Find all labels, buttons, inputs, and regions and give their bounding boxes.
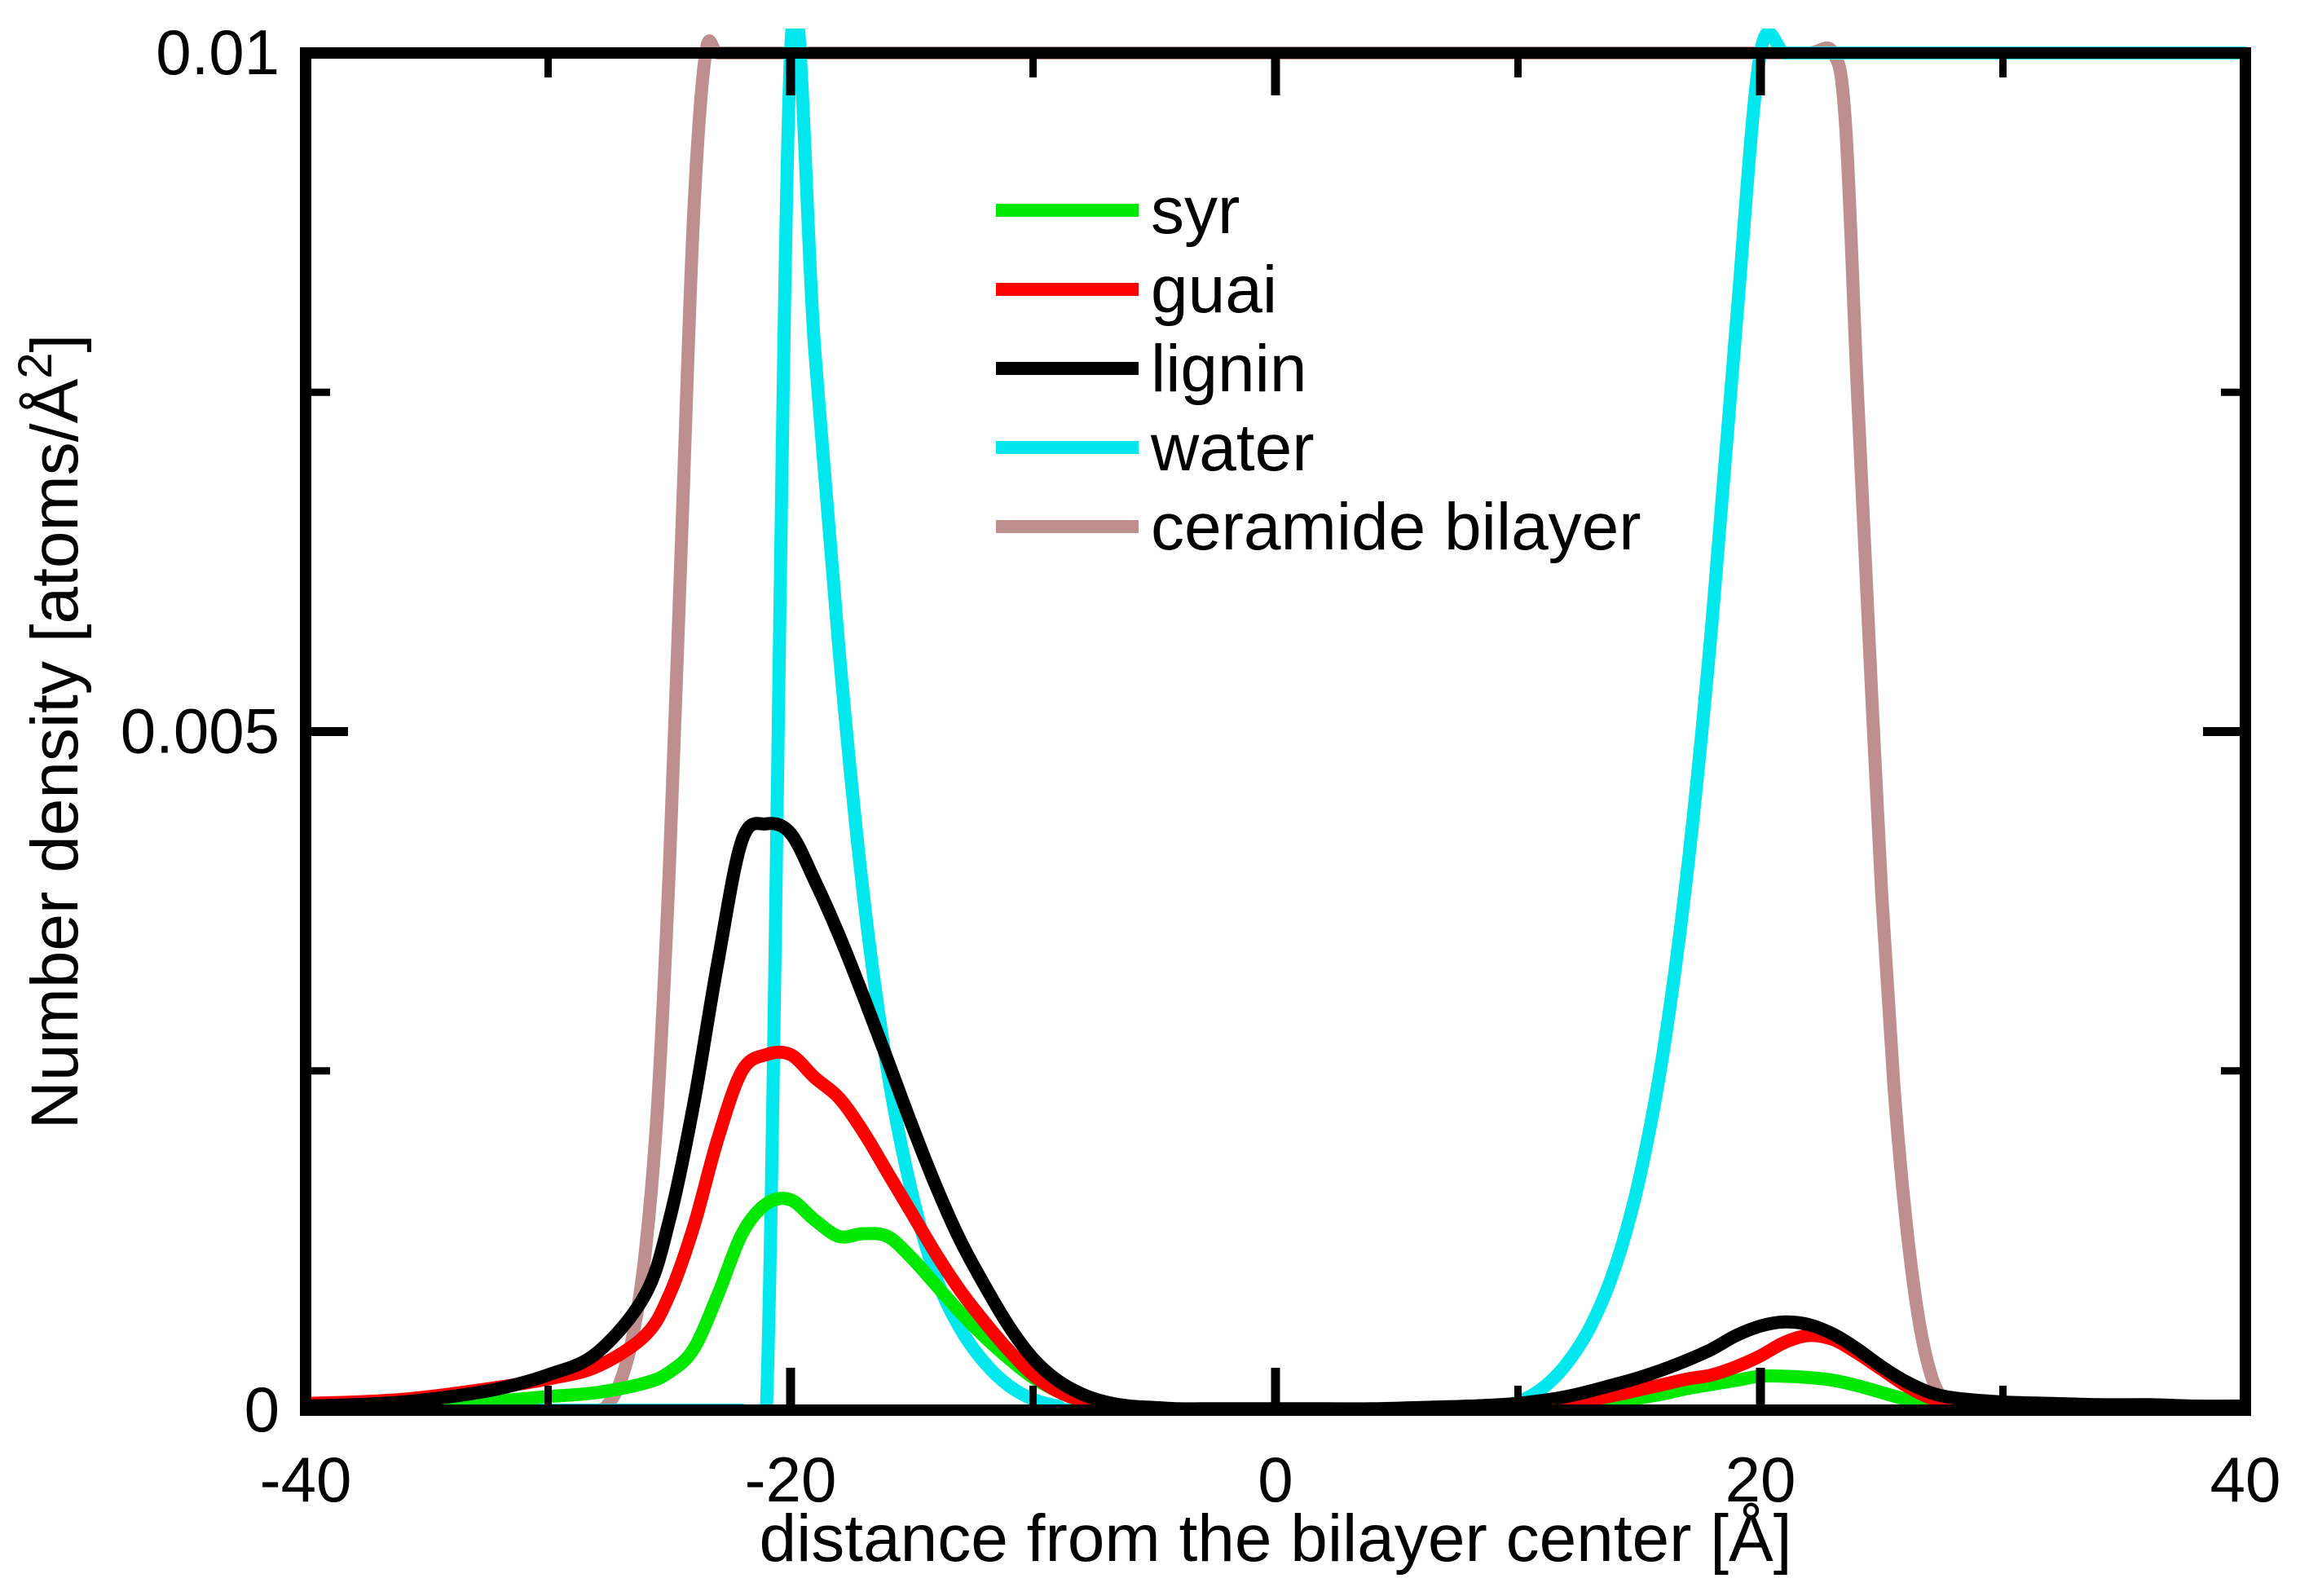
plot-background xyxy=(0,0,2300,1596)
svg-text:Number density [atoms/Å2]: Number density [atoms/Å2] xyxy=(9,334,92,1130)
legend-label: water xyxy=(1150,411,1315,485)
density-plot: -40-200204000.0050.01distance from the b… xyxy=(0,0,2300,1596)
legend-label: lignin xyxy=(1151,332,1306,406)
x-tick-label: -40 xyxy=(260,1444,352,1515)
y-axis-title: Number density [atoms/Å2] xyxy=(9,334,92,1130)
figure-page: -40-200204000.0050.01distance from the b… xyxy=(0,0,2300,1596)
legend-label: syr xyxy=(1151,174,1240,248)
x-axis-title: distance from the bilayer center [Å] xyxy=(759,1501,1791,1576)
legend-label: guai xyxy=(1151,253,1277,327)
y-tick-label: 0.01 xyxy=(156,16,280,88)
x-tick-label: 40 xyxy=(2210,1444,2281,1515)
legend-label: ceramide bilayer xyxy=(1151,490,1641,564)
y-tick-label: 0.005 xyxy=(121,695,280,767)
y-tick-label: 0 xyxy=(245,1373,280,1445)
